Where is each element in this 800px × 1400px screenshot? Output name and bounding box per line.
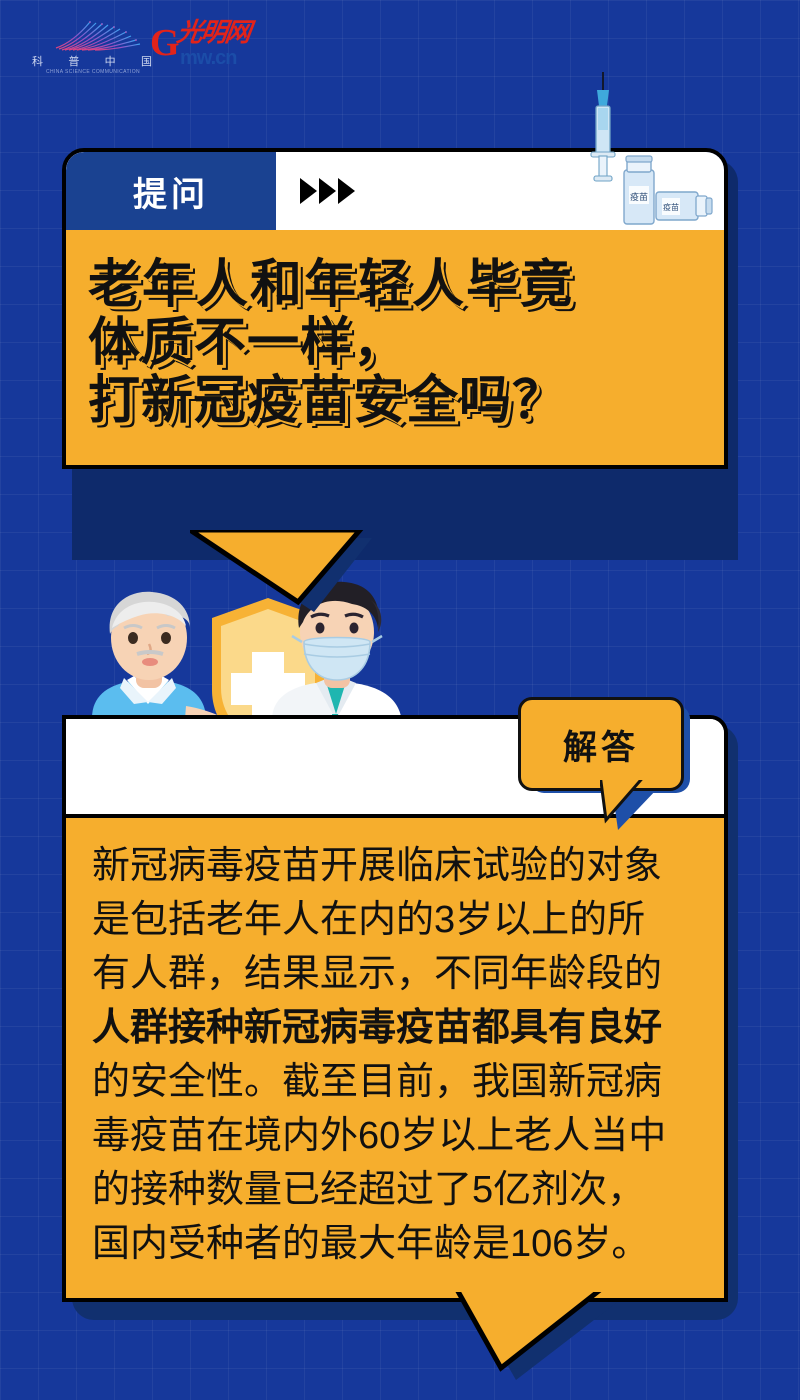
- answer-line-6: 毒疫苗在境内外60岁以上老人当中: [92, 1110, 698, 1164]
- question-bubble-tail: [190, 530, 390, 620]
- gradient-fin-icon: [50, 14, 142, 54]
- question-tag-label: 提问: [133, 167, 209, 216]
- answer-line-3: 有人群，结果显示，不同年龄段的: [92, 948, 698, 1002]
- logo-char-2: 中: [105, 57, 116, 68]
- question-card-header: 提问 疫苗 疫苗: [66, 152, 724, 230]
- question-line-1: 老年人和年轻人毕竟: [88, 256, 702, 314]
- question-line-3: 打新冠疫苗安全吗？: [88, 372, 702, 430]
- question-text-block: 老年人和年轻人毕竟 体质不一样， 打新冠疫苗安全吗？: [66, 230, 724, 465]
- logo-char-1: 普: [68, 57, 79, 68]
- kepu-zhongguo-logo: 科 普 中 国 CHINA SCIENCE COMMUNICATION: [32, 14, 152, 78]
- answer-line-7: 的接种数量已经超过了5亿剂次，: [92, 1164, 698, 1218]
- kepu-zhongguo-subtitle: CHINA SCIENCE COMMUNICATION: [32, 69, 154, 75]
- logo-bar: 科 普 中 国 CHINA SCIENCE COMMUNICATION G 光明…: [0, 0, 800, 100]
- gmw-logo: G 光明网 mw.cn: [150, 18, 260, 70]
- answer-tag: 解答: [518, 697, 684, 791]
- answer-tag-label: 解答: [563, 720, 639, 769]
- answer-line-8: 国内受种者的最大年龄是106岁。: [92, 1218, 698, 1272]
- question-card: 提问 疫苗 疫苗 老年人和年轻人毕竟 体质不一样， 打新冠疫苗安全吗？: [62, 148, 728, 469]
- triangle-right-icon: [338, 178, 355, 204]
- kepu-zhongguo-characters: 科 普 中 国: [32, 56, 152, 68]
- syringe-icon: [586, 72, 620, 182]
- answer-line-4: 人群接种新冠病毒疫苗都具有良好: [92, 1002, 698, 1056]
- answer-line-5: 的安全性。截至目前，我国新冠病: [92, 1056, 698, 1110]
- logo-char-0: 科: [32, 57, 43, 68]
- arrow-group: [276, 152, 355, 230]
- question-line-2: 体质不一样，: [88, 314, 702, 372]
- answer-line-1: 新冠病毒疫苗开展临床试验的对象: [92, 840, 698, 894]
- gmw-chinese-name: 光明网: [175, 20, 251, 46]
- svg-text:疫苗: 疫苗: [630, 191, 648, 202]
- answer-line-2: 是包括老年人在内的3岁以上的所: [92, 894, 698, 948]
- triangle-right-icon: [319, 178, 336, 204]
- answer-text-block: 新冠病毒疫苗开展临床试验的对象 是包括老年人在内的3岁以上的所 有人群，结果显示…: [66, 814, 724, 1298]
- answer-bubble-tail: [455, 1292, 655, 1392]
- triangle-right-icon: [300, 178, 317, 204]
- svg-text:疫苗: 疫苗: [663, 202, 679, 212]
- gmw-domain: mw.cn: [180, 48, 237, 68]
- question-tag: 提问: [66, 152, 276, 230]
- answer-tag-tail: [600, 780, 660, 830]
